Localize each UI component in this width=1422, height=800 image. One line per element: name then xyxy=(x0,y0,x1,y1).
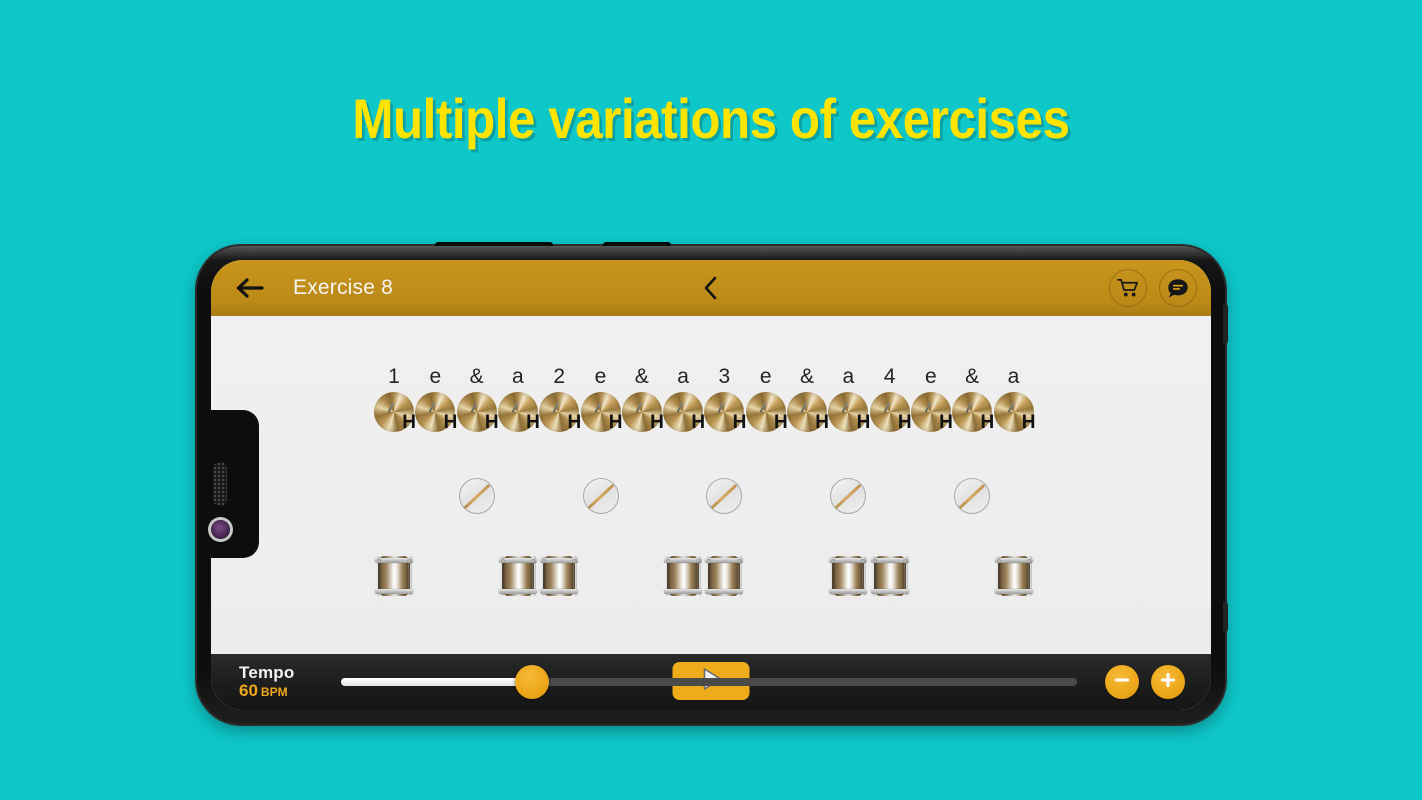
count-label: 4 xyxy=(870,364,910,390)
hihat-note[interactable]: H xyxy=(374,392,414,432)
snare-drum-icon xyxy=(583,478,619,514)
drumstick-icon xyxy=(587,483,614,508)
bass-drum-lug xyxy=(1027,589,1031,593)
bass-note[interactable] xyxy=(663,556,703,596)
notation-sheet: 1e&a2e&a3e&a4e&a HHHHHHHHHHHHHHHH xyxy=(211,316,1211,654)
count-row: 1e&a2e&a3e&a4e&a xyxy=(211,364,1211,390)
drumstick-icon xyxy=(718,402,725,413)
bass-drum-lug xyxy=(666,559,670,563)
phone-mockup: Exercise 8 xyxy=(197,246,1225,724)
drumstick-icon xyxy=(842,402,849,413)
phone-edge-button-bottom xyxy=(1223,602,1228,632)
tempo-label: Tempo xyxy=(239,664,325,682)
tempo-display: Tempo 60BPM xyxy=(239,664,325,701)
snare-note[interactable] xyxy=(952,478,992,514)
snare-note[interactable] xyxy=(828,478,868,514)
hihat-note[interactable]: H xyxy=(828,392,868,432)
hihat-cymbal-icon: H xyxy=(870,392,910,432)
hihat-note[interactable]: H xyxy=(870,392,910,432)
hihat-cymbal-icon: H xyxy=(539,392,579,432)
phone-volume-button xyxy=(435,242,553,249)
page-title: Multiple variations of exercises xyxy=(85,86,1336,151)
snare-note[interactable] xyxy=(457,478,497,514)
drumstick-icon xyxy=(429,402,436,413)
drumstick-icon xyxy=(835,483,862,508)
hihat-note[interactable]: H xyxy=(415,392,455,432)
phone-screen: Exercise 8 xyxy=(211,260,1211,710)
tempo-slider-thumb[interactable] xyxy=(515,665,549,699)
bass-drum-lug xyxy=(531,559,535,563)
phone-speaker-grille xyxy=(213,462,227,506)
drumstick-icon xyxy=(677,402,684,413)
bass-drum-lug xyxy=(997,589,1001,593)
bass-drum-lug xyxy=(707,589,711,593)
hihat-label: H xyxy=(815,413,829,432)
hihat-cymbal-icon: H xyxy=(787,392,827,432)
bass-drum-lug xyxy=(831,589,835,593)
drumstick-icon xyxy=(924,402,931,413)
hihat-cymbal-icon: H xyxy=(663,392,703,432)
hihat-label: H xyxy=(733,413,747,432)
bass-drum-lug xyxy=(377,559,381,563)
bass-drum-lug xyxy=(501,559,505,563)
phone-edge-button-top xyxy=(1223,304,1228,344)
drumstick-icon xyxy=(883,402,890,413)
count-label: e xyxy=(581,364,621,390)
hihat-cymbal-icon: H xyxy=(704,392,744,432)
bass-drum-lug xyxy=(903,589,907,593)
count-label: e xyxy=(746,364,786,390)
bass-drum-lug xyxy=(572,589,576,593)
drumstick-icon xyxy=(801,402,808,413)
bass-drum-lug xyxy=(831,559,835,563)
count-label: & xyxy=(457,364,497,390)
hihat-note[interactable]: H xyxy=(581,392,621,432)
hihat-row: HHHHHHHHHHHHHHHH xyxy=(211,392,1211,434)
snare-drum-icon xyxy=(830,478,866,514)
bass-drum-icon xyxy=(502,556,534,596)
count-label: a xyxy=(498,364,538,390)
drumstick-icon xyxy=(511,402,518,413)
drumstick-icon xyxy=(1007,402,1014,413)
bass-drum-lug xyxy=(542,589,546,593)
drumstick-icon xyxy=(553,402,560,413)
bass-note[interactable] xyxy=(498,556,538,596)
snare-note[interactable] xyxy=(581,478,621,514)
bass-drum-lug xyxy=(873,589,877,593)
tempo-unit: BPM xyxy=(261,686,288,699)
hihat-note[interactable]: H xyxy=(539,392,579,432)
bass-drum-icon xyxy=(832,556,864,596)
drumstick-icon xyxy=(966,402,973,413)
phone-notch xyxy=(197,410,259,558)
bass-drum-icon xyxy=(874,556,906,596)
bass-drum-lug xyxy=(1027,559,1031,563)
drumstick-icon xyxy=(959,483,986,508)
bass-drum-icon xyxy=(998,556,1030,596)
tempo-slider[interactable] xyxy=(341,664,1077,700)
bass-note[interactable] xyxy=(374,556,414,596)
hihat-cymbal-icon: H xyxy=(746,392,786,432)
bass-drum-lug xyxy=(407,559,411,563)
snare-drum-icon xyxy=(459,478,495,514)
count-label: e xyxy=(911,364,951,390)
phone-power-button xyxy=(603,242,671,249)
tempo-value: 60 xyxy=(239,682,258,700)
tempo-decrease-button[interactable] xyxy=(1105,665,1139,699)
hihat-label: H xyxy=(980,413,994,432)
tempo-increase-button[interactable] xyxy=(1151,665,1185,699)
drumstick-icon xyxy=(388,402,395,413)
hihat-cymbal-icon: H xyxy=(622,392,662,432)
count-label: a xyxy=(828,364,868,390)
bass-drum-lug xyxy=(737,589,741,593)
bass-drum-lug xyxy=(707,559,711,563)
hihat-note[interactable]: H xyxy=(952,392,992,432)
hihat-note[interactable]: H xyxy=(704,392,744,432)
drumstick-icon xyxy=(463,483,490,508)
hihat-cymbal-icon: H xyxy=(952,392,992,432)
hihat-label: H xyxy=(567,413,581,432)
hihat-note[interactable]: H xyxy=(457,392,497,432)
hihat-label: H xyxy=(444,413,458,432)
hihat-label: H xyxy=(939,413,953,432)
hihat-label: H xyxy=(774,413,788,432)
count-label: 1 xyxy=(374,364,414,390)
count-label: a xyxy=(663,364,703,390)
count-label: & xyxy=(952,364,992,390)
count-label: a xyxy=(994,364,1034,390)
hihat-cymbal-icon: H xyxy=(498,392,538,432)
hihat-label: H xyxy=(485,413,499,432)
minus-icon xyxy=(1112,670,1132,695)
hihat-label: H xyxy=(1022,413,1036,432)
chat-bubble-icon[interactable] xyxy=(1159,269,1197,307)
bass-drum-lug xyxy=(997,559,1001,563)
drumstick-icon xyxy=(711,483,738,508)
bass-drum-icon xyxy=(543,556,575,596)
bass-drum-lug xyxy=(531,589,535,593)
bass-drum-lug xyxy=(903,559,907,563)
bass-note[interactable] xyxy=(870,556,910,596)
drumstick-icon xyxy=(594,402,601,413)
hihat-note[interactable]: H xyxy=(994,392,1034,432)
count-label: e xyxy=(415,364,455,390)
bass-drum-lug xyxy=(377,589,381,593)
bass-drum-lug xyxy=(666,589,670,593)
hihat-note[interactable]: H xyxy=(498,392,538,432)
hihat-label: H xyxy=(691,413,705,432)
hihat-note[interactable]: H xyxy=(787,392,827,432)
hihat-note[interactable]: H xyxy=(663,392,703,432)
bass-drum-lug xyxy=(542,559,546,563)
bass-drum-lug xyxy=(861,589,865,593)
hihat-cymbal-icon: H xyxy=(457,392,497,432)
bass-drum-lug xyxy=(873,559,877,563)
drumstick-icon xyxy=(470,402,477,413)
bass-note[interactable] xyxy=(539,556,579,596)
hihat-cymbal-icon: H xyxy=(994,392,1034,432)
snare-drum-icon xyxy=(706,478,742,514)
hihat-note[interactable]: H xyxy=(622,392,662,432)
drumstick-icon xyxy=(635,402,642,413)
bass-note[interactable] xyxy=(994,556,1034,596)
hihat-cymbal-icon: H xyxy=(415,392,455,432)
count-label: & xyxy=(622,364,662,390)
plus-icon xyxy=(1158,670,1178,695)
chevron-left-icon[interactable] xyxy=(696,273,726,303)
snare-note[interactable] xyxy=(704,478,744,514)
snare-row xyxy=(211,478,1211,518)
count-label: 3 xyxy=(704,364,744,390)
hihat-cymbal-icon: H xyxy=(581,392,621,432)
app-bar: Exercise 8 xyxy=(211,260,1211,316)
hihat-label: H xyxy=(526,413,540,432)
bass-drum-icon xyxy=(708,556,740,596)
hihat-label: H xyxy=(650,413,664,432)
shopping-cart-icon[interactable] xyxy=(1109,269,1147,307)
snare-drum-icon xyxy=(954,478,990,514)
hihat-cymbal-icon: H xyxy=(911,392,951,432)
bass-drum-icon xyxy=(378,556,410,596)
hihat-label: H xyxy=(402,413,416,432)
app-bar-title: Exercise 8 xyxy=(293,276,393,300)
tempo-slider-fill xyxy=(341,678,532,686)
bass-drum-lug xyxy=(696,589,700,593)
count-label: 2 xyxy=(539,364,579,390)
hihat-label: H xyxy=(609,413,623,432)
drumstick-icon xyxy=(759,402,766,413)
bass-row xyxy=(211,556,1211,602)
bass-drum-icon xyxy=(667,556,699,596)
hihat-cymbal-icon: H xyxy=(374,392,414,432)
phone-front-camera xyxy=(211,520,230,539)
hihat-cymbal-icon: H xyxy=(828,392,868,432)
bass-note[interactable] xyxy=(704,556,744,596)
hihat-note[interactable]: H xyxy=(911,392,951,432)
hihat-note[interactable]: H xyxy=(746,392,786,432)
bass-drum-lug xyxy=(407,589,411,593)
hihat-label: H xyxy=(857,413,871,432)
bass-drum-lug xyxy=(501,589,505,593)
count-label: & xyxy=(787,364,827,390)
hihat-label: H xyxy=(898,413,912,432)
arrow-left-icon[interactable] xyxy=(233,271,267,305)
bass-note[interactable] xyxy=(828,556,868,596)
